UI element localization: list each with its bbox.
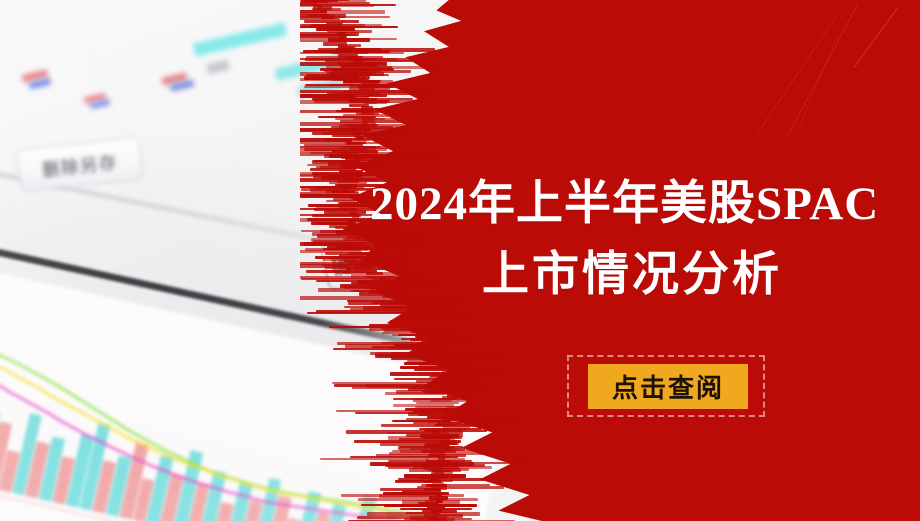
brush-streak: [307, 312, 421, 314]
headline-line-1: 2024年上半年美股SPAC: [370, 180, 920, 229]
cta-button-label: 点击查阅: [612, 368, 724, 405]
poster-canvas: 删除另存 确认 2024年上半年美股SPAC 上市情况分析 点击查阅: [0, 0, 920, 521]
headline-block: 2024年上半年美股SPAC 上市情况分析: [360, 180, 920, 300]
cta-button[interactable]: 点击查阅: [588, 364, 748, 409]
headline-line-2: 上市情况分析: [360, 251, 904, 300]
brush-streak: [300, 110, 394, 113]
